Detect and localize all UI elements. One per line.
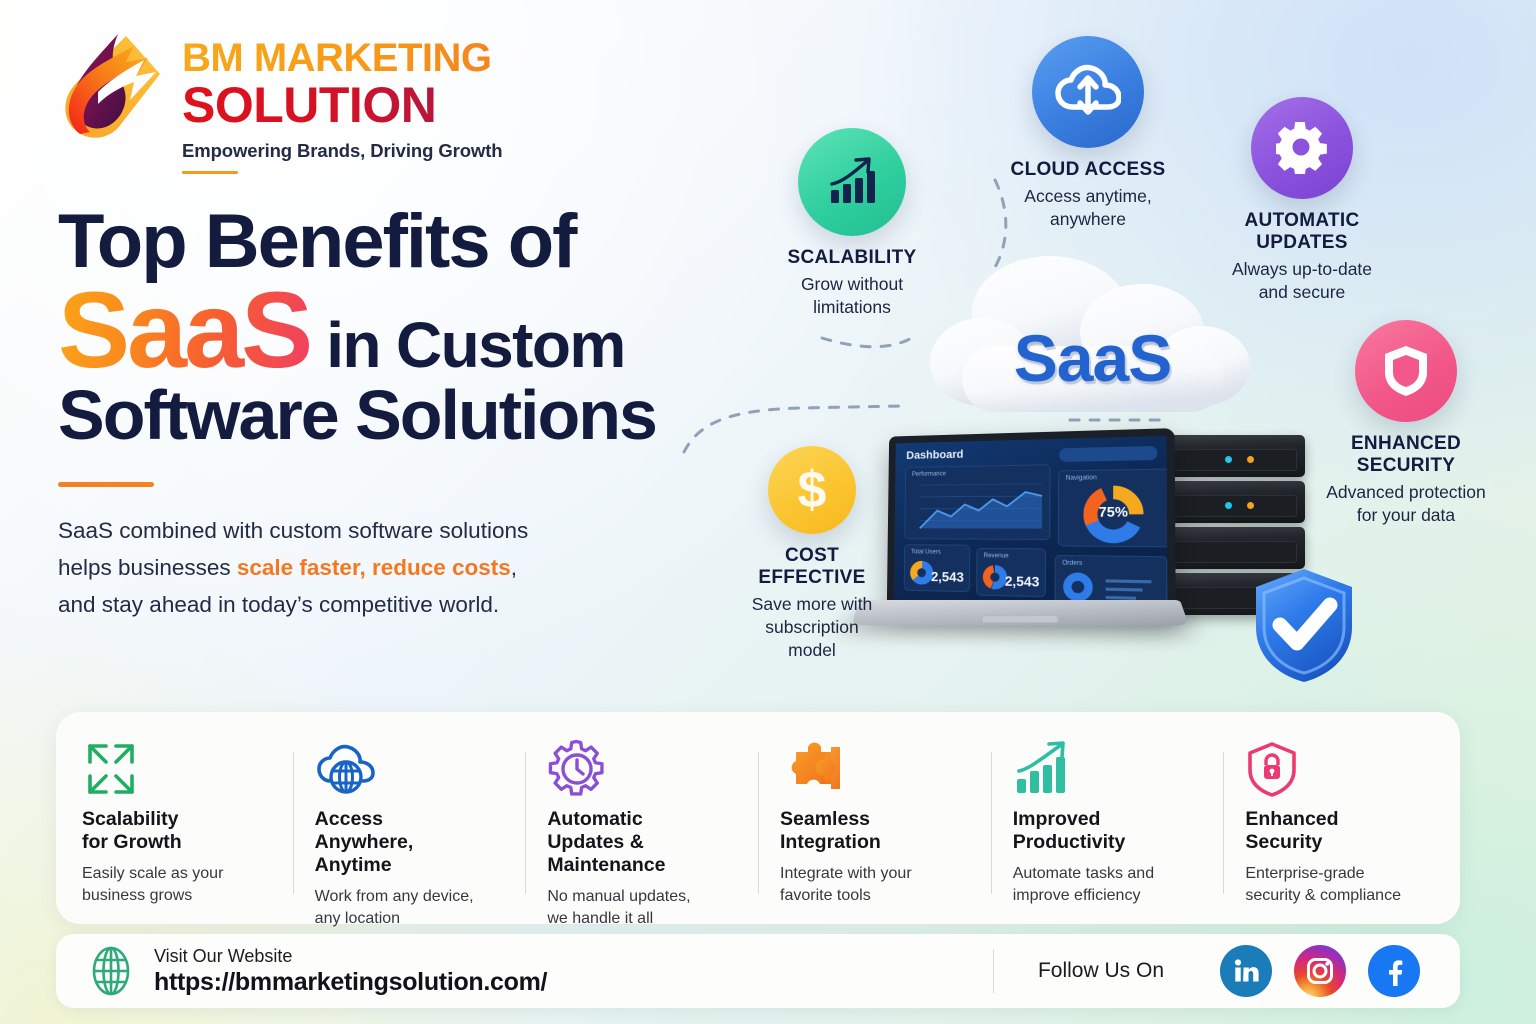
badge-enhanced-security: ENHANCED SECURITY Advanced protection fo… <box>1300 320 1512 527</box>
automatic-updates-sub: Always up-to-date and secure <box>1196 258 1408 305</box>
enhanced-security-sub: Advanced protection for your data <box>1300 481 1512 528</box>
facebook-icon[interactable] <box>1368 945 1420 997</box>
scalability-title: SCALABILITY <box>766 247 938 269</box>
feature-sub-1: Work from any device, <box>315 888 474 905</box>
cost-sub-3: model <box>788 640 836 660</box>
headline-accent-rule <box>58 482 154 487</box>
feature-title: Seamless Integration <box>780 808 969 854</box>
feature-sub-1: Enterprise-grade <box>1245 865 1364 882</box>
cost-sub-1: Save more with <box>752 594 873 614</box>
feature-sub: Enterprise-grade security & compliance <box>1245 863 1434 906</box>
footer-bar: Visit Our Website https://bmmarketingsol… <box>56 934 1460 1008</box>
feature-sub-1: Easily scale as your <box>82 865 223 882</box>
scalability-sub-1: Grow without <box>801 274 903 294</box>
feature-title-1: Scalability <box>82 808 178 830</box>
cost-title-1: COST <box>785 545 839 566</box>
logo-underline <box>182 171 238 174</box>
enhanced-security-circle <box>1355 320 1457 422</box>
feature-title-3: Maintenance <box>547 854 665 876</box>
subcopy-line-1: SaaS combined with custom software solut… <box>58 518 528 543</box>
puzzle-piece-icon <box>780 741 846 797</box>
logo-mark-icon <box>56 28 168 148</box>
expand-arrows-icon <box>82 740 140 798</box>
scalability-sub-2: limitations <box>813 297 891 317</box>
dashboard-area-chart: Performance <box>904 464 1050 540</box>
feature-icon-wrap <box>1245 738 1434 800</box>
website-text: Visit Our Website https://bmmarketingsol… <box>154 945 547 997</box>
feature-icon-wrap <box>82 738 271 800</box>
badge-automatic-updates: AUTOMATIC UPDATES Always up-to-date and … <box>1196 97 1408 304</box>
automatic-updates-circle <box>1251 97 1353 199</box>
sec-sub-1: Advanced protection <box>1326 482 1486 502</box>
feature-icon-wrap <box>315 738 504 800</box>
feature-icon-wrap <box>1013 738 1202 800</box>
laptop-screen: Dashboard Performance Navigation <box>887 428 1176 615</box>
feature-sub-2: business grows <box>82 887 192 904</box>
dashboard-stat-total-users: Total Users 2,543 <box>904 544 971 592</box>
headline-saas-highlight: SaaS <box>58 280 310 379</box>
auto-title-2: UPDATES <box>1256 232 1347 253</box>
cloud-sync-icon <box>1055 63 1121 121</box>
cost-effective-sub: Save more with subscription model <box>726 593 898 663</box>
auto-sub-1: Always up-to-date <box>1232 259 1372 279</box>
cost-effective-title: COST EFFECTIVE <box>726 545 898 589</box>
features-panel: Scalability for Growth Easily scale as y… <box>56 712 1460 924</box>
stat-revenue-label: Revenue <box>984 553 1009 560</box>
feature-title-3: Anytime <box>315 854 392 876</box>
feature-title-2: Integration <box>780 831 881 853</box>
sec-title-1: ENHANCED <box>1351 433 1461 454</box>
feature-sub-2: we handle it all <box>547 910 653 927</box>
subcopy-line-2a: helps businesses <box>58 555 237 580</box>
feature-sub-2: favorite tools <box>780 887 871 904</box>
donut-percent-value: 75% <box>1059 503 1169 519</box>
feature-sub-1: No manual updates, <box>547 888 690 905</box>
cloud-globe-icon <box>315 741 377 797</box>
enhanced-security-title: ENHANCED SECURITY <box>1300 433 1512 477</box>
website-url[interactable]: https://bmmarketingsolution.com/ <box>154 968 547 997</box>
follow-label: Follow Us On <box>1038 959 1164 983</box>
cloud-access-sub-1: Access anytime, <box>1024 186 1151 206</box>
dashboard-donut-chart: Navigation 75% <box>1058 468 1171 547</box>
gear-clock-icon <box>547 739 607 799</box>
feature-title-1: Enhanced <box>1245 808 1338 830</box>
cloud-access-circle <box>1032 36 1144 148</box>
shield-check-icon <box>1250 565 1358 685</box>
cost-effective-circle: $ <box>768 446 856 534</box>
stat-revenue-value: 2,543 <box>1005 573 1040 590</box>
shield-lock-icon <box>1245 740 1299 798</box>
sec-sub-2: for your data <box>1357 505 1455 525</box>
facebook-glyph <box>1379 956 1409 986</box>
scalability-sub: Grow without limitations <box>766 273 938 320</box>
headline-in-custom: in Custom <box>326 308 624 382</box>
infographic-canvas: BM MARKETING SOLUTION Empowering Brands,… <box>0 0 1536 1024</box>
feature-sub: Integrate with your favorite tools <box>780 863 969 906</box>
feature-seamless-integration[interactable]: Seamless Integration Integrate with your… <box>758 738 991 906</box>
feature-sub: Work from any device, any location <box>315 886 504 929</box>
logo-line-1: BM MARKETING <box>182 38 502 78</box>
feature-title-2: Productivity <box>1013 831 1126 853</box>
logo-line-2: SOLUTION <box>182 80 502 131</box>
feature-title-1: Improved <box>1013 808 1101 830</box>
feature-sub-1: Automate tasks and <box>1013 865 1154 882</box>
feature-scalability-for-growth[interactable]: Scalability for Growth Easily scale as y… <box>60 738 293 906</box>
subcopy-line-3: and stay ahead in today’s competitive wo… <box>58 592 499 617</box>
auto-sub-2: and secure <box>1259 282 1346 302</box>
subcopy-line-2b: , <box>511 555 517 580</box>
dashboard-title: Dashboard <box>906 449 963 462</box>
linkedin-glyph <box>1231 956 1261 986</box>
feature-sub: Automate tasks and improve efficiency <box>1013 863 1202 906</box>
svg-text:$: $ <box>798 462 827 518</box>
feature-title: Enhanced Security <box>1245 808 1434 854</box>
feature-title-1: Access <box>315 808 383 830</box>
badge-cost-effective: $ COST EFFECTIVE Save more with subscrip… <box>726 446 898 662</box>
feature-sub: No manual updates, we handle it all <box>547 886 736 929</box>
instagram-icon[interactable] <box>1294 945 1346 997</box>
bar-chart-growth-icon <box>824 154 880 210</box>
cost-title-2: EFFECTIVE <box>758 567 865 588</box>
feature-sub-2: improve efficiency <box>1013 887 1141 904</box>
feature-title-2: Updates & <box>547 831 643 853</box>
footer-divider <box>993 949 994 993</box>
scalability-circle <box>798 128 906 236</box>
orders-bars-icon <box>1056 556 1167 606</box>
shield-icon <box>1382 344 1430 398</box>
cloud-access-sub-2: anywhere <box>1050 209 1126 229</box>
feature-title: Access Anywhere, Anytime <box>315 808 504 877</box>
logo-tagline: Empowering Brands, Driving Growth <box>182 140 502 162</box>
feature-improved-productivity[interactable]: Improved Productivity Automate tasks and… <box>991 738 1224 906</box>
feature-enhanced-security[interactable]: Enhanced Security Enterprise-grade secur… <box>1223 738 1456 906</box>
auto-title-1: AUTOMATIC <box>1245 210 1360 231</box>
visit-label: Visit Our Website <box>154 945 547 968</box>
feature-title: Automatic Updates & Maintenance <box>547 808 736 877</box>
feature-sub-2: security & compliance <box>1245 887 1401 904</box>
globe-icon <box>86 944 136 998</box>
subcopy-highlight: scale faster, reduce costs <box>237 555 511 580</box>
instagram-glyph <box>1305 956 1335 986</box>
feature-sub: Easily scale as your business grows <box>82 863 271 906</box>
laptop-base <box>851 600 1189 625</box>
badge-cloud-access: CLOUD ACCESS Access anytime, anywhere <box>985 36 1191 231</box>
social-icons <box>1220 945 1420 997</box>
stat-total-users-value: 2,543 <box>931 569 964 585</box>
feature-title-2: Security <box>1245 831 1322 853</box>
laptop-trackpad <box>981 615 1059 623</box>
bar-chart-up-icon <box>1013 741 1075 797</box>
feature-automatic-updates-maintenance[interactable]: Automatic Updates & Maintenance No manua… <box>525 738 758 906</box>
automatic-updates-title: AUTOMATIC UPDATES <box>1196 210 1408 254</box>
feature-access-anywhere-anytime[interactable]: Access Anywhere, Anytime Work from any d… <box>293 738 526 906</box>
sec-title-2: SECURITY <box>1357 455 1455 476</box>
area-chart-svg <box>905 465 1049 539</box>
gear-icon <box>1276 122 1328 174</box>
feature-sub-2: any location <box>315 910 400 927</box>
website-block[interactable]: Visit Our Website https://bmmarketingsol… <box>86 944 547 998</box>
feature-title: Improved Productivity <box>1013 808 1202 854</box>
feature-title-2: Anywhere, <box>315 831 414 853</box>
feature-sub-1: Integrate with your <box>780 865 912 882</box>
dollar-icon: $ <box>790 462 834 518</box>
linkedin-icon[interactable] <box>1220 945 1272 997</box>
cloud-saas-label: SaaS <box>975 320 1210 396</box>
feature-title: Scalability for Growth <box>82 808 271 854</box>
stat-total-users-label: Total Users <box>911 549 941 555</box>
feature-title-1: Seamless <box>780 808 870 830</box>
feature-icon-wrap <box>547 738 736 800</box>
badge-scalability: SCALABILITY Grow without limitations <box>766 128 938 319</box>
feature-title-1: Automatic <box>547 808 642 830</box>
cloud-access-sub: Access anytime, anywhere <box>985 185 1191 232</box>
cost-sub-2: subscription <box>765 617 858 637</box>
dashboard-searchbar <box>1059 446 1157 462</box>
feature-icon-wrap <box>780 738 969 800</box>
subcopy-block: SaaS combined with custom software solut… <box>58 513 678 623</box>
brand-logo: BM MARKETING SOLUTION Empowering Brands,… <box>56 28 502 174</box>
feature-title-2: for Growth <box>82 831 182 853</box>
dashboard-stat-revenue: Revenue 2,543 <box>976 548 1046 597</box>
cloud-access-title: CLOUD ACCESS <box>985 159 1191 181</box>
